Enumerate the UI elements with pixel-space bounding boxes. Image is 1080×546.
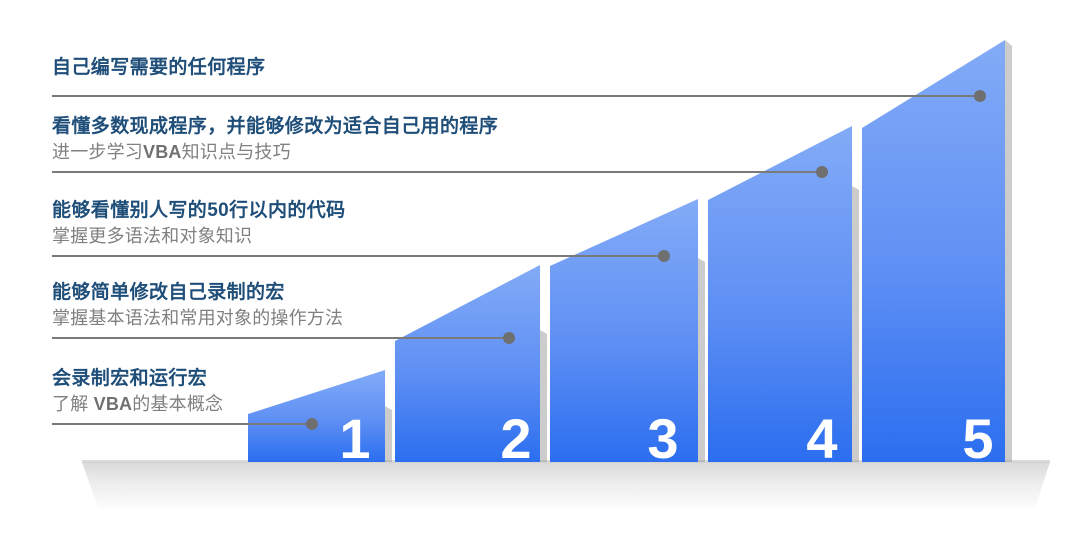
level-subtitle-4-em: VBA xyxy=(143,142,182,162)
level-subtitle-4-pre: 进一步学习 xyxy=(52,142,143,162)
level-subtitle-1-em: VBA xyxy=(94,394,133,414)
bar-number-2: 2 xyxy=(500,407,531,470)
connector-dot-5 xyxy=(974,90,986,102)
infographic-canvas: 1 2 3 4 5 自己编写需要的任何程序 看懂多数现成程序，并能够修改为适合自… xyxy=(0,0,1080,546)
bar-5[interactable] xyxy=(862,40,1005,462)
level-block-5: 自己编写需要的任何程序 xyxy=(52,56,265,80)
connector-dot-1 xyxy=(306,418,318,430)
level-subtitle-1-pre: 了解 xyxy=(52,394,94,414)
level-subtitle-3: 掌握更多语法和对象知识 xyxy=(52,225,346,248)
bar-number-1: 1 xyxy=(339,407,370,470)
bar-number-3: 3 xyxy=(647,407,678,470)
level-block-4: 看懂多数现成程序，并能够修改为适合自己用的程序 进一步学习VBA知识点与技巧 xyxy=(52,115,498,163)
level-title-3-pre: 能够看懂别人写的 xyxy=(52,200,207,221)
level-subtitle-4-post: 知识点与技巧 xyxy=(182,142,291,162)
level-title-3-em: 50 xyxy=(207,200,229,221)
level-block-3: 能够看懂别人写的50行以内的代码 掌握更多语法和对象知识 xyxy=(52,199,346,247)
level-block-1: 会录制宏和运行宏 了解 VBA的基本概念 xyxy=(52,367,223,415)
connector-dot-2 xyxy=(503,332,515,344)
level-title-3: 能够看懂别人写的50行以内的代码 xyxy=(52,199,346,223)
bar-number-5: 5 xyxy=(962,407,993,470)
level-title-2: 能够简单修改自己录制的宏 xyxy=(52,281,343,305)
level-title-1: 会录制宏和运行宏 xyxy=(52,367,223,391)
level-subtitle-1-post: 的基本概念 xyxy=(132,394,223,414)
level-block-2: 能够简单修改自己录制的宏 掌握基本语法和常用对象的操作方法 xyxy=(52,281,343,329)
connector-dot-3 xyxy=(658,250,670,262)
base-platform xyxy=(82,462,1050,508)
level-title-5: 自己编写需要的任何程序 xyxy=(52,56,265,80)
bar-group xyxy=(248,40,1005,462)
level-subtitle-1: 了解 VBA的基本概念 xyxy=(52,393,223,416)
level-title-4: 看懂多数现成程序，并能够修改为适合自己用的程序 xyxy=(52,115,498,139)
staircase-chart: 1 2 3 4 5 xyxy=(0,0,1080,546)
level-subtitle-4: 进一步学习VBA知识点与技巧 xyxy=(52,141,498,164)
level-subtitle-2: 掌握基本语法和常用对象的操作方法 xyxy=(52,307,343,330)
connector-dot-4 xyxy=(816,166,828,178)
bar-number-4: 4 xyxy=(806,407,837,470)
level-title-3-post: 行以内的代码 xyxy=(229,200,345,221)
